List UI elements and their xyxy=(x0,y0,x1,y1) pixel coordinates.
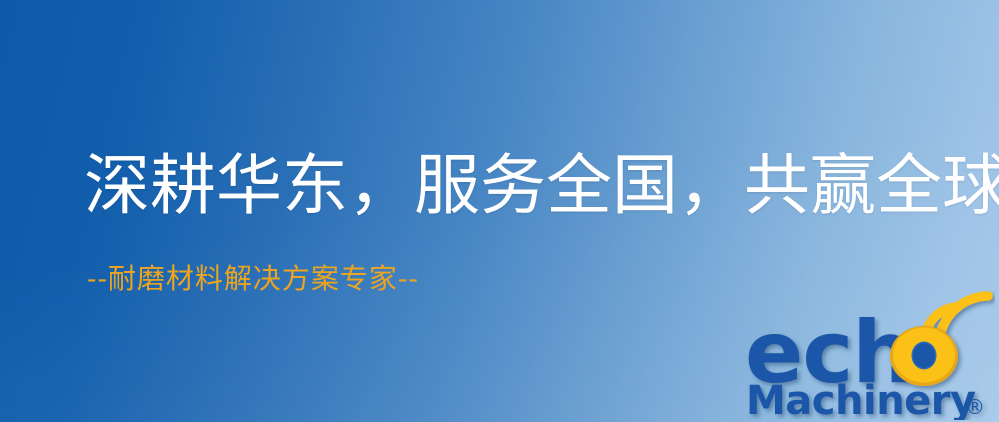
logo-wordmark-gold xyxy=(890,326,958,386)
echo-machinery-logo[interactable]: ech Machinery ® xyxy=(743,290,995,420)
page-subtitle: --耐磨材料解决方案专家-- xyxy=(87,264,419,295)
hero-banner: 深耕华东，服务全国，共赢全球 --耐磨材料解决方案专家-- ech xyxy=(0,0,999,422)
svg-text:Machinery: Machinery xyxy=(746,378,976,420)
logo-tagline: Machinery ® xyxy=(746,378,985,420)
registered-trademark-icon: ® xyxy=(965,395,985,419)
page-title: 深耕华东，服务全国，共赢全球 xyxy=(84,152,999,219)
